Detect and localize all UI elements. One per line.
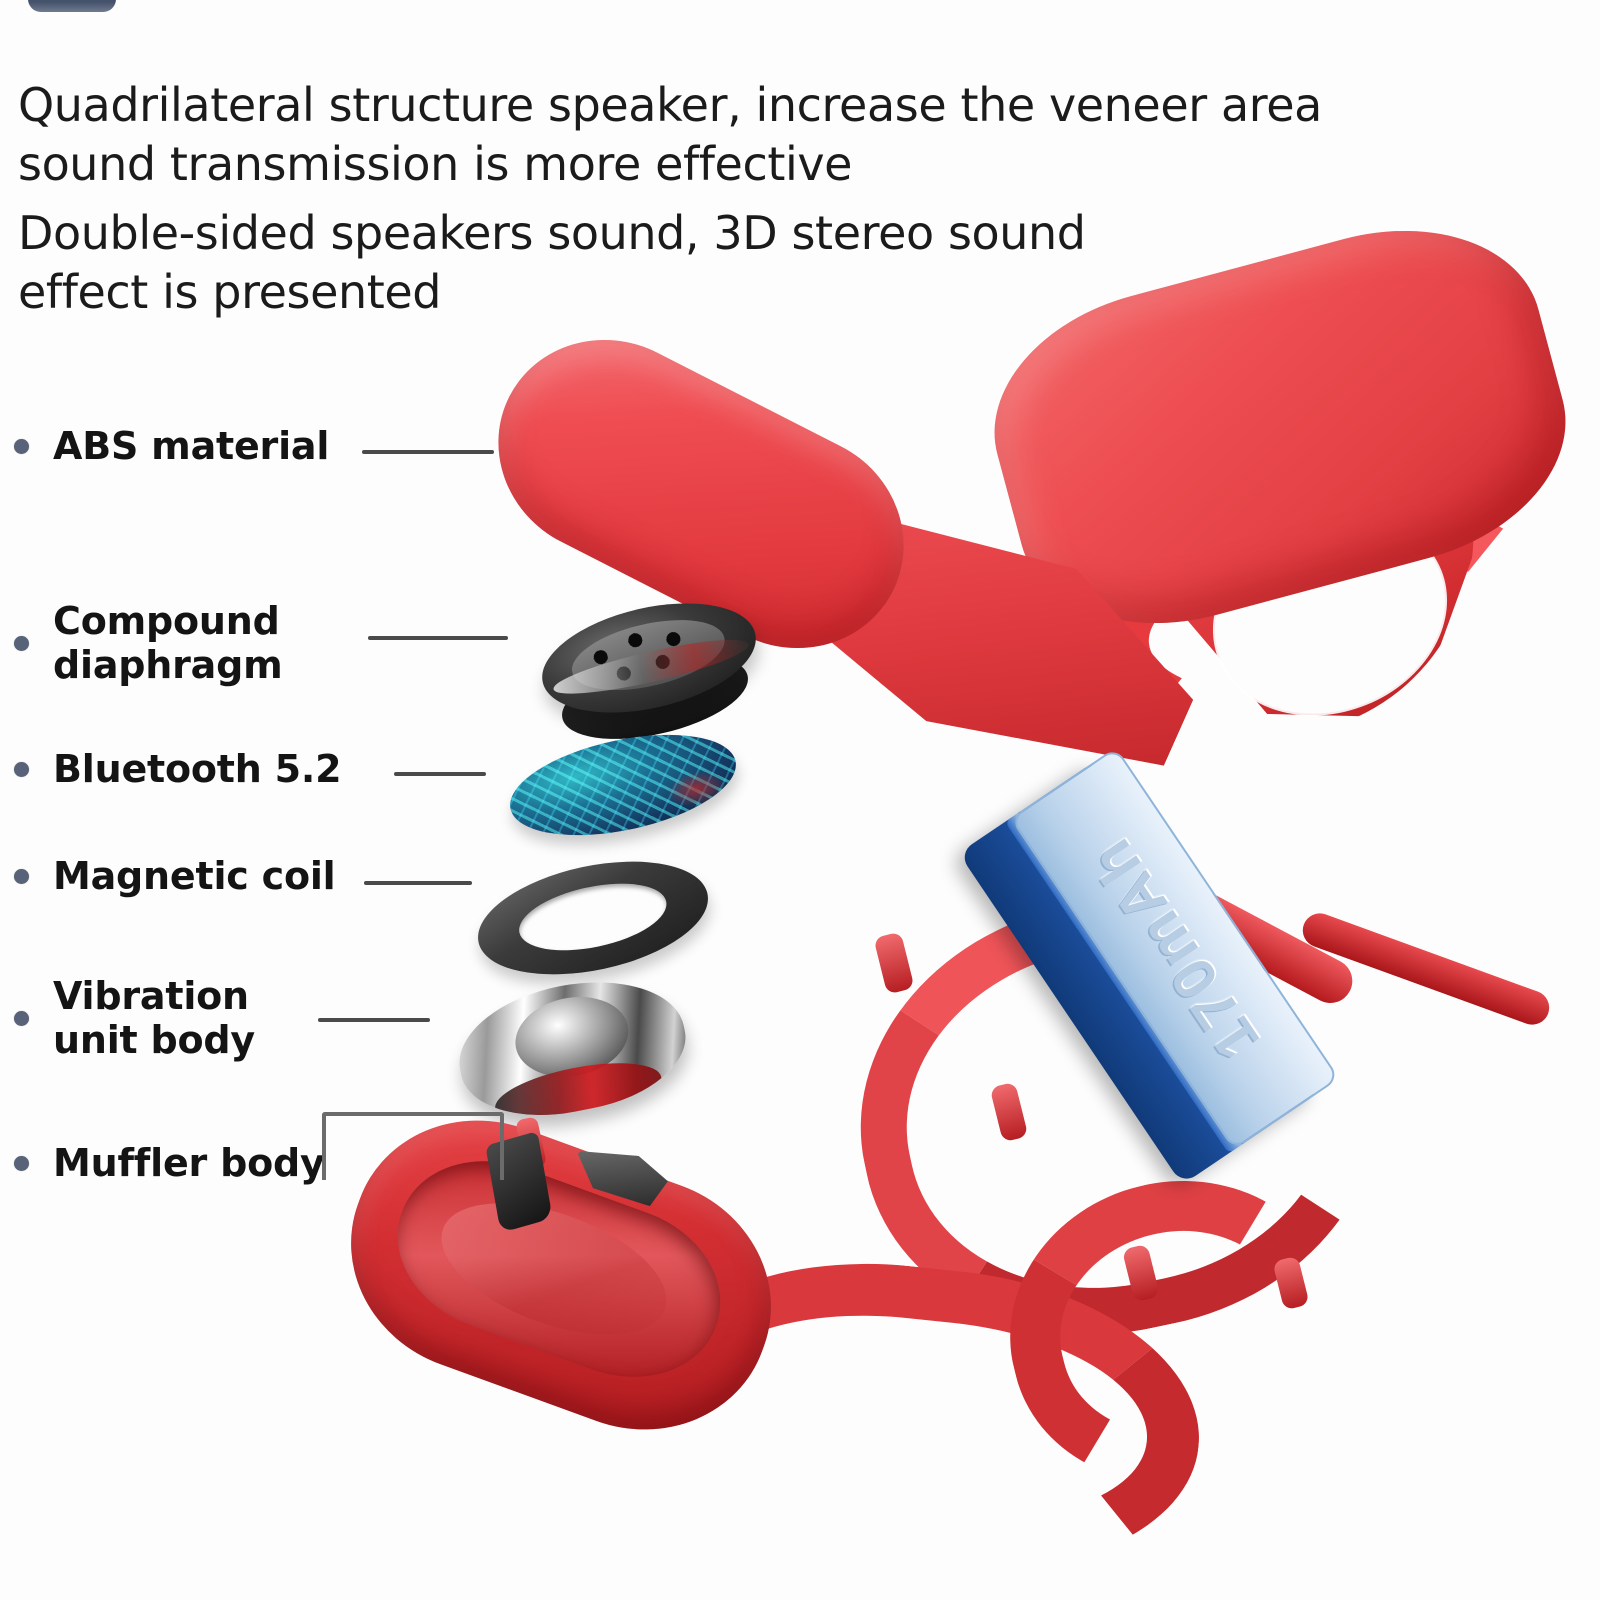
bullet-icon — [14, 762, 29, 777]
callout-magnetic-coil: Magnetic coil — [14, 855, 336, 899]
bullet-icon — [14, 636, 29, 651]
leader-line-vibration-unit — [318, 1018, 430, 1022]
mount-post-1 — [873, 931, 914, 994]
leader-line-magnetic-coil — [364, 881, 472, 885]
exploded-product-illustration: 170mAh — [0, 0, 1600, 1600]
leader-bracket-muffler-body — [322, 1112, 504, 1180]
vibration-unit-part — [448, 964, 696, 1131]
callout-vibration-unit: Vibration unit body — [14, 975, 255, 1062]
callout-label: ABS material — [53, 425, 329, 469]
bullet-icon — [14, 1156, 29, 1171]
leader-line-bluetooth — [394, 772, 486, 776]
callout-muffler-body: Muffler body — [14, 1142, 325, 1186]
magnetic-coil-part — [468, 843, 719, 993]
leader-line-abs-material — [362, 450, 494, 454]
callout-label: Compound diaphragm — [53, 600, 283, 687]
bullet-icon — [14, 439, 29, 454]
callout-label: Muffler body — [53, 1142, 325, 1186]
callout-label: Bluetooth 5.2 — [53, 748, 341, 792]
callout-bluetooth: Bluetooth 5.2 — [14, 748, 341, 792]
leader-line-compound-diaphragm — [368, 636, 508, 640]
infographic-canvas: Quadrilateral structure speaker, increas… — [0, 0, 1600, 1600]
callout-compound-diaphragm: Compound diaphragm — [14, 600, 283, 687]
bullet-icon — [14, 1011, 29, 1026]
bullet-icon — [14, 869, 29, 884]
callout-label: Vibration unit body — [53, 975, 255, 1062]
callout-abs-material: ABS material — [14, 425, 329, 469]
callout-label: Magnetic coil — [53, 855, 336, 899]
bluetooth-board-part — [501, 717, 745, 853]
